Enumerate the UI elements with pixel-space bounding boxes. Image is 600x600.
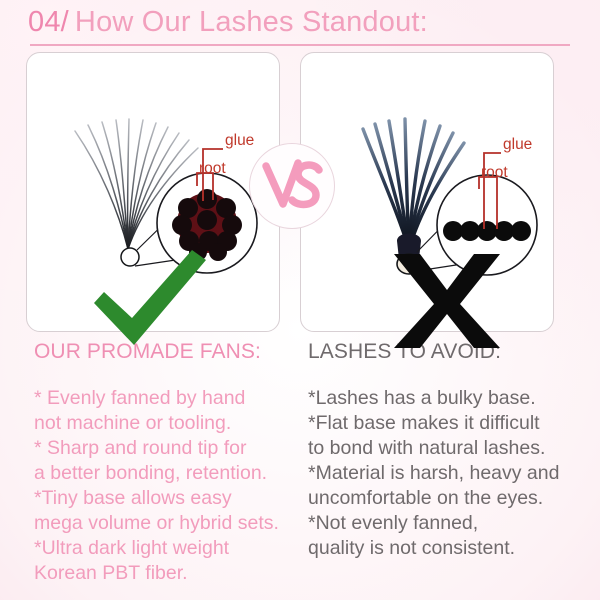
root-label-bad: root bbox=[481, 164, 508, 181]
black-x-icon bbox=[392, 252, 502, 350]
versus-mark bbox=[250, 144, 334, 228]
header-line: 04/ How Our Lashes Standout: bbox=[28, 6, 572, 39]
page-title: How Our Lashes Standout: bbox=[75, 6, 428, 39]
glue-label-bad: glue bbox=[503, 136, 532, 153]
lashes-to-avoid-column: LASHES TO AVOID: *Lashes has a bulky bas… bbox=[308, 340, 580, 561]
infographic-page: 04/ How Our Lashes Standout: bbox=[0, 0, 600, 600]
green-check-icon bbox=[88, 248, 212, 348]
header-underline bbox=[30, 44, 570, 46]
base-row-bad bbox=[443, 221, 531, 241]
versus-badge bbox=[249, 143, 335, 229]
header-step-number: 04/ bbox=[28, 6, 69, 39]
root-label-good: root bbox=[199, 160, 226, 177]
promade-fans-column: OUR PROMADE FANS: * Evenly fanned by han… bbox=[34, 340, 306, 586]
promade-fans-body: * Evenly fanned by hand not machine or t… bbox=[34, 386, 306, 586]
lashes-to-avoid-body: *Lashes has a bulky base. *Flat base mak… bbox=[308, 386, 580, 561]
page-header: 04/ How Our Lashes Standout: bbox=[28, 6, 572, 48]
